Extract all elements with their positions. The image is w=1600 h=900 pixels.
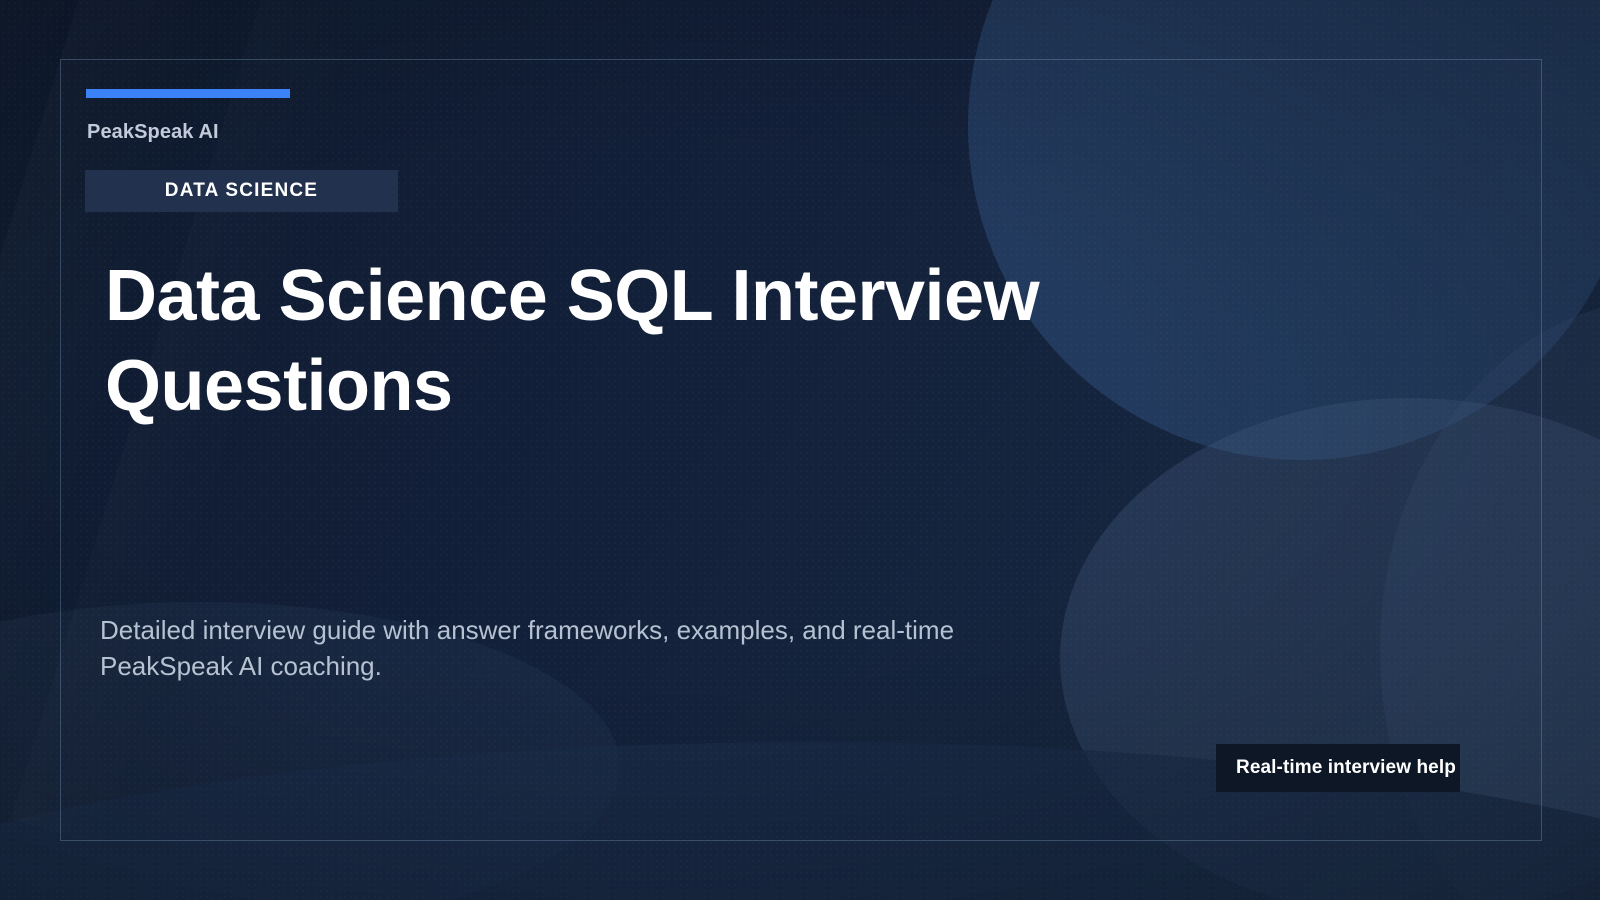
category-badge-label: DATA SCIENCE: [165, 180, 318, 202]
brand-name: PeakSpeak AI: [87, 121, 219, 144]
slide-content: PeakSpeak AI DATA SCIENCE Data Science S…: [0, 0, 1600, 900]
presentation-slide: PeakSpeak AI DATA SCIENCE Data Science S…: [0, 0, 1600, 900]
cta-badge-label: Real-time interview help: [1236, 757, 1456, 779]
page-title: Data Science SQL Interview Questions: [105, 251, 1065, 431]
category-badge: DATA SCIENCE: [85, 170, 398, 212]
accent-bar: [86, 89, 290, 98]
slide-subtitle: Detailed interview guide with answer fra…: [100, 612, 1020, 684]
cta-badge: Real-time interview help: [1216, 744, 1460, 792]
